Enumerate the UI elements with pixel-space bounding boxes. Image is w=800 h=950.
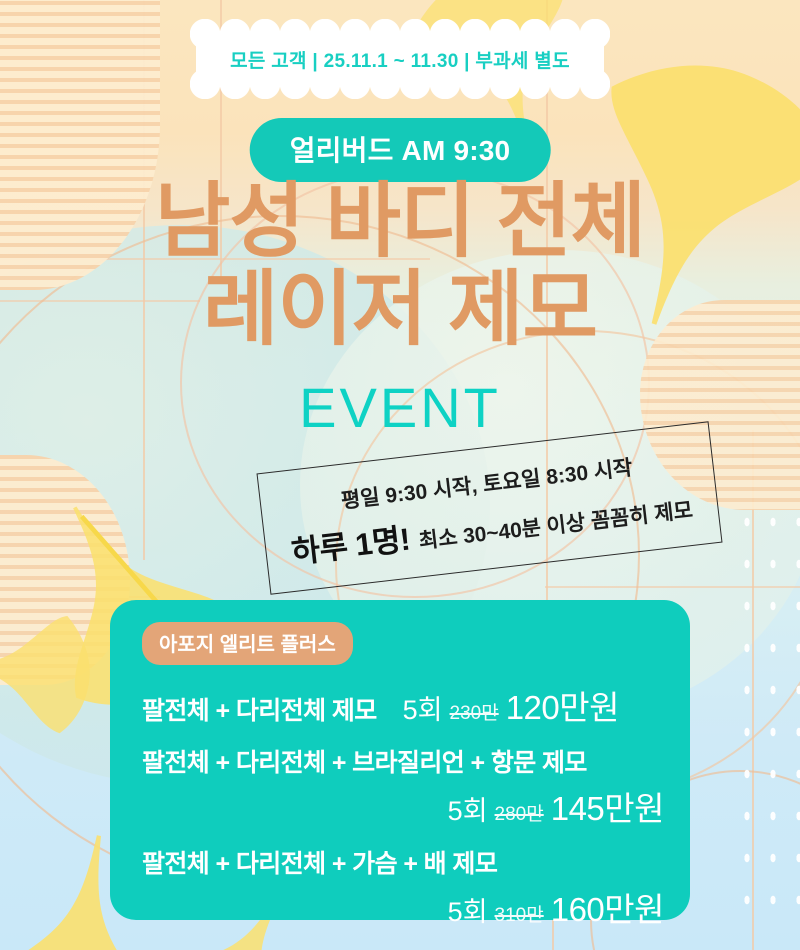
scallop-shape: 모든 고객 | 25.11.1 ~ 11.30 | 부과세 별도 [196, 34, 604, 84]
price-row-stacked: 팔전체 + 다리전체 + 브라질리언 + 항문 제모 5회 280만 145만원 [142, 743, 664, 830]
price-original: 310만 [495, 900, 544, 927]
grid-hline-right [545, 586, 800, 588]
price-count: 5회 [448, 789, 488, 828]
price-row-title: 팔전체 + 다리전체 + 브라질리언 + 항문 제모 [142, 743, 664, 779]
price-count: 5회 [403, 688, 443, 727]
price-original: 280만 [495, 799, 544, 826]
note-box: 평일 9:30 시작, 토요일 8:30 시작 하루 1명! 최소 30~40분… [256, 421, 722, 594]
price-count: 5회 [448, 890, 488, 929]
price-row-price: 5회 230만 120만원 [403, 681, 619, 729]
banner-text: 모든 고객 | 25.11.1 ~ 11.30 | 부과세 별도 [230, 46, 570, 73]
ginkgo-leaf-icon-midleft [0, 590, 100, 750]
price-row-price: 5회 280만 145만원 [142, 782, 664, 830]
price-row-title: 팔전체 + 다리전체 + 가슴 + 배 제모 [142, 844, 664, 880]
price-row-stacked: 팔전체 + 다리전체 + 가슴 + 배 제모 5회 310만 160만원 [142, 844, 664, 931]
note-highlight: 하루 1명! [289, 513, 412, 571]
promo-poster: 모든 고객 | 25.11.1 ~ 11.30 | 부과세 별도 얼리버드 AM… [0, 0, 800, 950]
dot-grid-pattern [728, 495, 800, 925]
price-row-inline: 팔전체 + 다리전체 제모 5회 230만 120만원 [142, 681, 664, 729]
note-inner: 평일 9:30 시작, 토요일 8:30 시작 하루 1명! 최소 30~40분… [258, 422, 722, 593]
price-original: 230만 [450, 698, 499, 725]
price-row-title: 팔전체 + 다리전체 제모 [142, 691, 377, 727]
grid-hline-low [0, 596, 160, 598]
price-row: 팔전체 + 다리전체 + 브라질리언 + 항문 제모 5회 280만 145만원 [142, 743, 664, 830]
price-row: 팔전체 + 다리전체 + 가슴 + 배 제모 5회 310만 160만원 [142, 844, 664, 931]
brand-badge: 아포지 엘리트 플러스 [142, 622, 353, 665]
price-discounted: 145만원 [551, 782, 664, 830]
price-row-price: 5회 310만 160만원 [142, 883, 664, 931]
earlybird-badge: 얼리버드 AM 9:30 [250, 118, 551, 182]
headline-line-1: 남성 바디 전체 [0, 182, 800, 262]
top-info-banner: 모든 고객 | 25.11.1 ~ 11.30 | 부과세 별도 [0, 26, 800, 92]
price-discounted: 160만원 [551, 883, 664, 931]
price-discounted: 120만원 [506, 681, 619, 729]
grid-vline-far [752, 430, 754, 950]
price-row: 팔전체 + 다리전체 제모 5회 230만 120만원 [142, 681, 664, 729]
price-card: 아포지 엘리트 플러스 팔전체 + 다리전체 제모 5회 230만 120만원 … [110, 600, 690, 920]
headline-block: 남성 바디 전체 레이저 제모 [0, 182, 800, 351]
headline-line-2: 레이저 제모 [0, 270, 800, 350]
note-detail: 최소 30~40분 이상 꼼꼼히 제모 [417, 493, 694, 554]
